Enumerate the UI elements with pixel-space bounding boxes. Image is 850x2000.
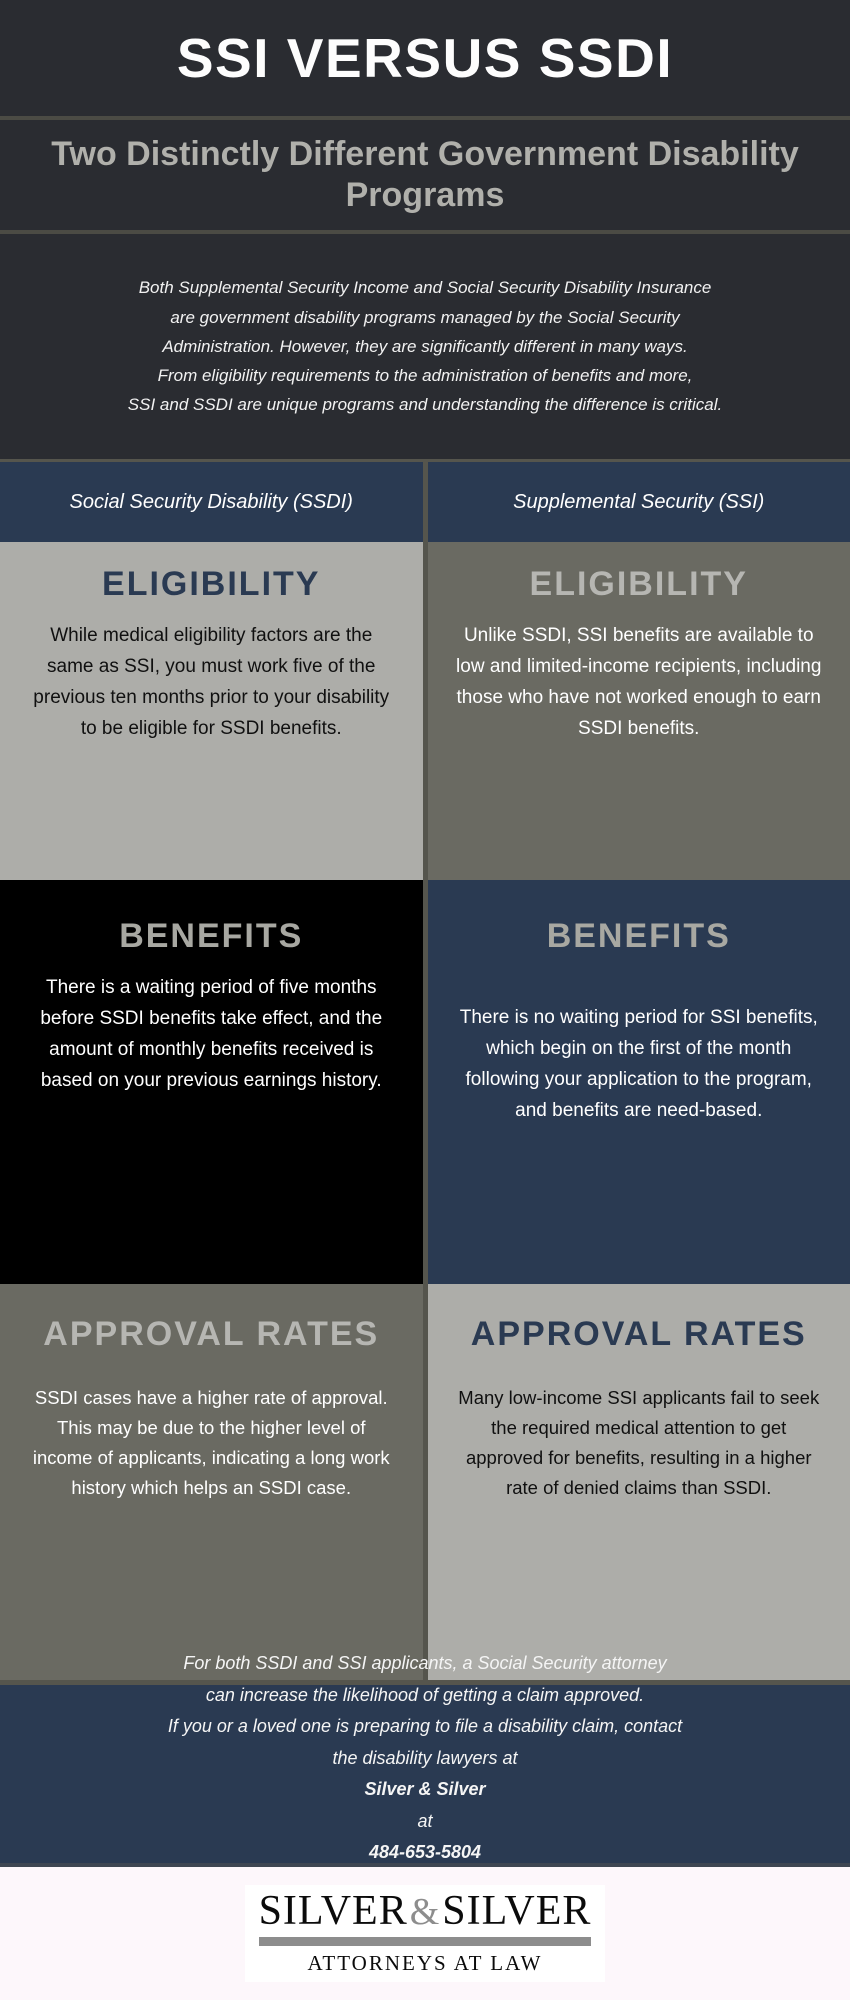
ampersand-icon: & [408,1891,443,1933]
page-subtitle: Two Distinctly Different Government Disa… [0,134,850,217]
cell-benefits-ssi-body: There is no waiting period for SSI benef… [454,1003,825,1127]
cell-approval-rates-ssdi-body: SSDI cases have a higher rate of approva… [26,1383,397,1504]
cell-approval-rates-ssi-heading: APPROVAL RATES [471,1314,807,1355]
cell-eligibility-ssdi-heading: ELIGIBILITY [102,564,320,605]
infographic-ssi-versus-ssdi: SSI VERSUS SSDI Two Distinctly Different… [0,0,850,2000]
cell-benefits-ssi-heading: BENEFITS [547,916,731,957]
intro-line-3: Administration. However, they are signif… [128,332,722,361]
logo-wordmark: SILVER&SILVER [259,1889,592,1933]
cell-benefits-ssdi-body: There is a waiting period of five months… [26,973,397,1097]
column-header-ssdi-label: Social Security Disability (SSDI) [70,491,353,514]
cta-line-3: If you or a loved one is preparing to fi… [168,1711,682,1743]
cta-paragraph: For both SSDI and SSI applicants, a Soci… [140,1648,710,1900]
intro-line-5: SSI and SSDI are unique programs and und… [128,390,722,419]
cta-line-4-mid: at [168,1806,682,1838]
cell-eligibility-ssdi: ELIGIBILITY While medical eligibility fa… [0,542,423,880]
column-header-ssi: Supplemental Security (SSI) [428,462,850,542]
cell-benefits-ssdi: BENEFITS There is a waiting period of fi… [0,880,423,1284]
intro-line-4: From eligibility requirements to the adm… [128,361,722,390]
cta-line-2: can increase the likelihood of getting a… [168,1680,682,1712]
row-eligibility: ELIGIBILITY While medical eligibility fa… [0,542,850,880]
column-header-ssdi: Social Security Disability (SSDI) [0,462,423,542]
column-header-ssi-label: Supplemental Security (SSI) [513,491,764,514]
logo-divider-rule [259,1937,592,1946]
row-approval-rates: APPROVAL RATES SSDI cases have a higher … [0,1284,850,1680]
silver-and-silver-logo[interactable]: SILVER&SILVER ATTORNEYS AT LAW [245,1885,606,1982]
cell-eligibility-ssdi-body: While medical eligibility factors are th… [26,621,397,745]
subtitle-line-1: Two Distinctly Different [51,135,428,173]
row-benefits: BENEFITS There is a waiting period of fi… [0,880,850,1284]
intro-line-1: Both Supplemental Security Income and So… [128,273,722,302]
cell-benefits-ssdi-heading: BENEFITS [119,916,303,957]
cta-line-1: For both SSDI and SSI applicants, a Soci… [168,1648,682,1680]
cell-approval-rates-ssdi: APPROVAL RATES SSDI cases have a higher … [0,1284,423,1680]
cell-eligibility-ssi-heading: ELIGIBILITY [530,564,748,605]
cta-phone-number[interactable]: 484-653-5804 [369,1842,481,1862]
cell-benefits-ssi: BENEFITS There is no waiting period for … [428,880,850,1284]
column-header-row: Social Security Disability (SSDI) Supple… [0,462,850,542]
intro-line-2: are government disability programs manag… [128,303,722,332]
logo-band: SILVER&SILVER ATTORNEYS AT LAW [0,1867,850,2000]
title-band: SSI VERSUS SSDI [0,0,850,120]
cta-band: For both SSDI and SSI applicants, a Soci… [0,1680,850,1867]
cell-approval-rates-ssdi-heading: APPROVAL RATES [43,1314,379,1355]
cta-firm-name: Silver & Silver [364,1779,485,1799]
intro-paragraph: Both Supplemental Security Income and So… [102,273,748,419]
logo-name-right: SILVER [442,1888,591,1934]
logo-tagline: ATTORNEYS AT LAW [259,1951,592,1976]
cell-approval-rates-ssi: APPROVAL RATES Many low-income SSI appli… [428,1284,850,1680]
logo-name-left: SILVER [259,1888,408,1934]
intro-band: Both Supplemental Security Income and So… [0,234,850,462]
cell-approval-rates-ssi-body: Many low-income SSI applicants fail to s… [454,1383,825,1504]
cell-eligibility-ssi: ELIGIBILITY Unlike SSDI, SSI benefits ar… [428,542,850,880]
subtitle-band: Two Distinctly Different Government Disa… [0,120,850,234]
cell-eligibility-ssi-body: Unlike SSDI, SSI benefits are available … [454,621,825,745]
cta-line-4-pre: the disability lawyers at [168,1743,682,1775]
page-title: SSI VERSUS SSDI [177,31,673,86]
